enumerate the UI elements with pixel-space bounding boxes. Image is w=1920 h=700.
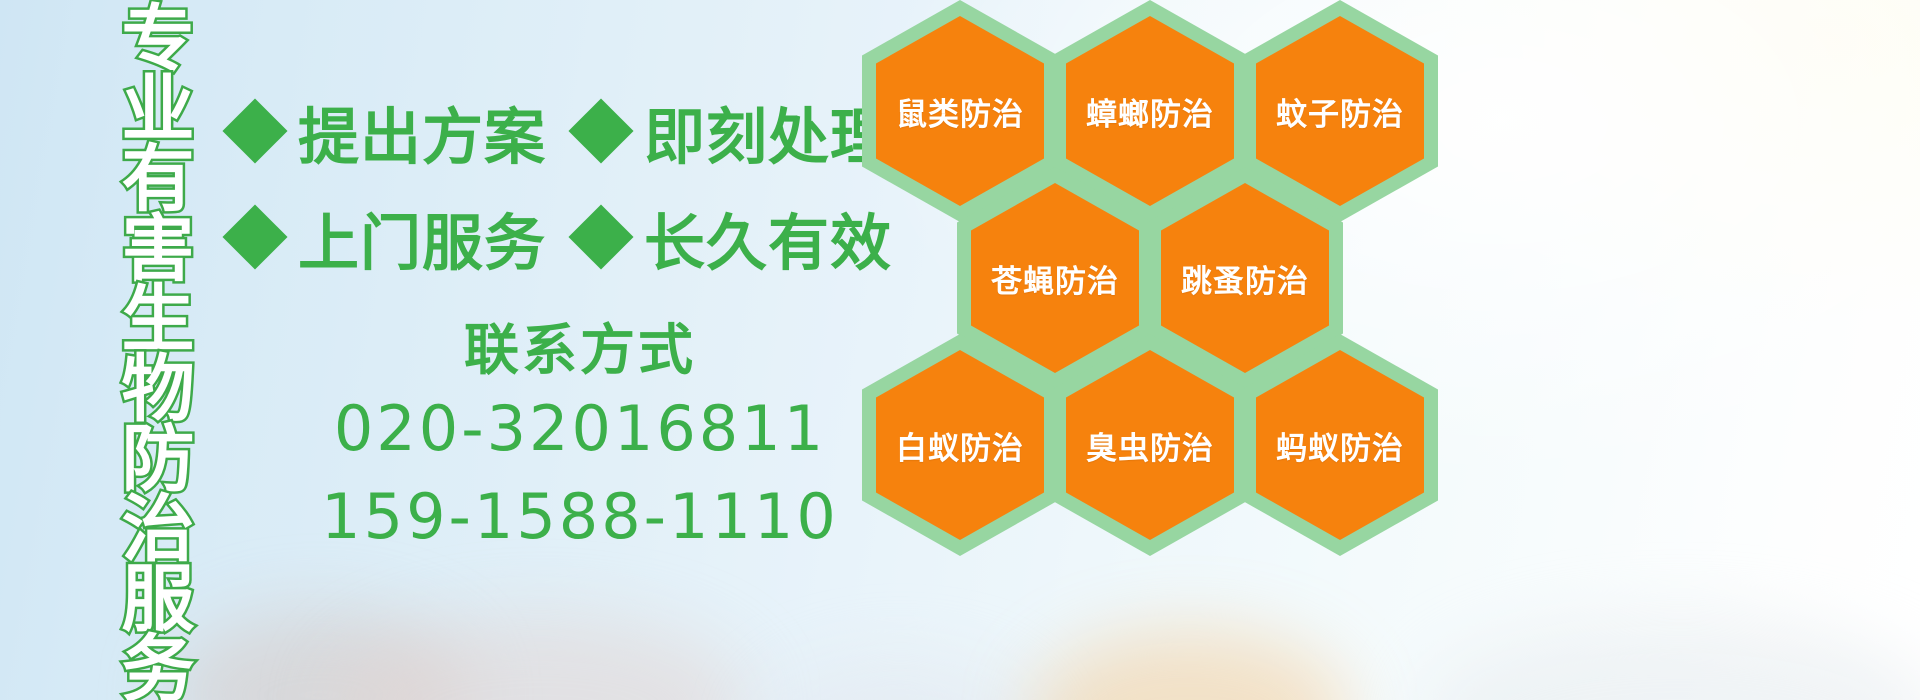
background-blur-blob — [330, 616, 750, 700]
vertical-slogan-char: 生 — [122, 284, 195, 354]
contact-phone-mobile[interactable]: 159-1588-1110 — [300, 473, 860, 561]
diamond-bullet-icon — [222, 98, 287, 163]
background-blur-blob — [1030, 630, 1350, 700]
service-hex-label: 蚂蚁防治 — [1276, 423, 1404, 468]
feature-row: 提出方案 即刻处理 — [232, 78, 872, 184]
diamond-bullet-icon — [568, 204, 633, 269]
contact-title: 联系方式 — [300, 316, 860, 385]
vertical-slogan-char: 害 — [122, 214, 195, 284]
hex-inner: 蟑螂防治 — [1066, 16, 1234, 206]
service-hex-label: 蟑螂防治 — [1086, 89, 1214, 134]
vertical-slogan-char: 物 — [122, 354, 195, 424]
service-hex-label: 臭虫防治 — [1086, 423, 1214, 468]
hex-inner: 鼠类防治 — [876, 16, 1044, 206]
diamond-bullet-icon — [222, 204, 287, 269]
service-hex-label: 苍蝇防治 — [991, 256, 1119, 301]
hex-inner: 苍蝇防治 — [971, 183, 1139, 373]
vertical-slogan-char: 防 — [122, 424, 195, 494]
vertical-slogan-char: 业 — [122, 74, 195, 144]
vertical-slogan: 专 业 有 害 生 物 防 治 服 务 — [110, 4, 206, 700]
diamond-bullet-icon — [568, 98, 633, 163]
hex-inner: 臭虫防治 — [1066, 350, 1234, 540]
service-hex-label: 跳蚤防治 — [1181, 256, 1309, 301]
vertical-slogan-char: 务 — [122, 634, 195, 700]
background-blur-blob — [760, 660, 1040, 700]
hex-inner: 白蚁防治 — [876, 350, 1044, 540]
service-hex-label: 白蚁防治 — [896, 423, 1024, 468]
feature-label: 提出方案 — [298, 87, 546, 176]
feature-label: 即刻处理 — [644, 87, 892, 176]
service-honeycomb: 鼠类防治 蟑螂防治 蚊子防治 苍蝇防治 跳蚤防治 白蚁防 — [862, 0, 1462, 602]
vertical-slogan-char: 有 — [122, 144, 195, 214]
feature-list: 提出方案 即刻处理 上门服务 长久有效 — [232, 78, 872, 290]
feature-label: 长久有效 — [644, 193, 892, 282]
vertical-slogan-char: 服 — [122, 564, 195, 634]
feature-label: 上门服务 — [298, 193, 546, 282]
contact-block: 联系方式 020-32016811 159-1588-1110 — [300, 316, 860, 561]
background-blur-blob — [170, 610, 470, 700]
hex-inner: 蚂蚁防治 — [1256, 350, 1424, 540]
service-hex-label: 鼠类防治 — [896, 89, 1024, 134]
vertical-slogan-char: 治 — [122, 494, 195, 564]
hex-inner: 跳蚤防治 — [1161, 183, 1329, 373]
contact-phone-landline[interactable]: 020-32016811 — [300, 385, 860, 473]
vertical-slogan-char: 专 — [122, 4, 195, 74]
background-blur-blob — [1420, 620, 1920, 700]
feature-row: 上门服务 长久有效 — [232, 184, 872, 290]
service-hex-label: 蚊子防治 — [1276, 89, 1404, 134]
hex-inner: 蚊子防治 — [1256, 16, 1424, 206]
promo-banner: 专 业 有 害 生 物 防 治 服 务 提出方案 即刻处理 上门服务 长久有效 … — [0, 0, 1920, 700]
